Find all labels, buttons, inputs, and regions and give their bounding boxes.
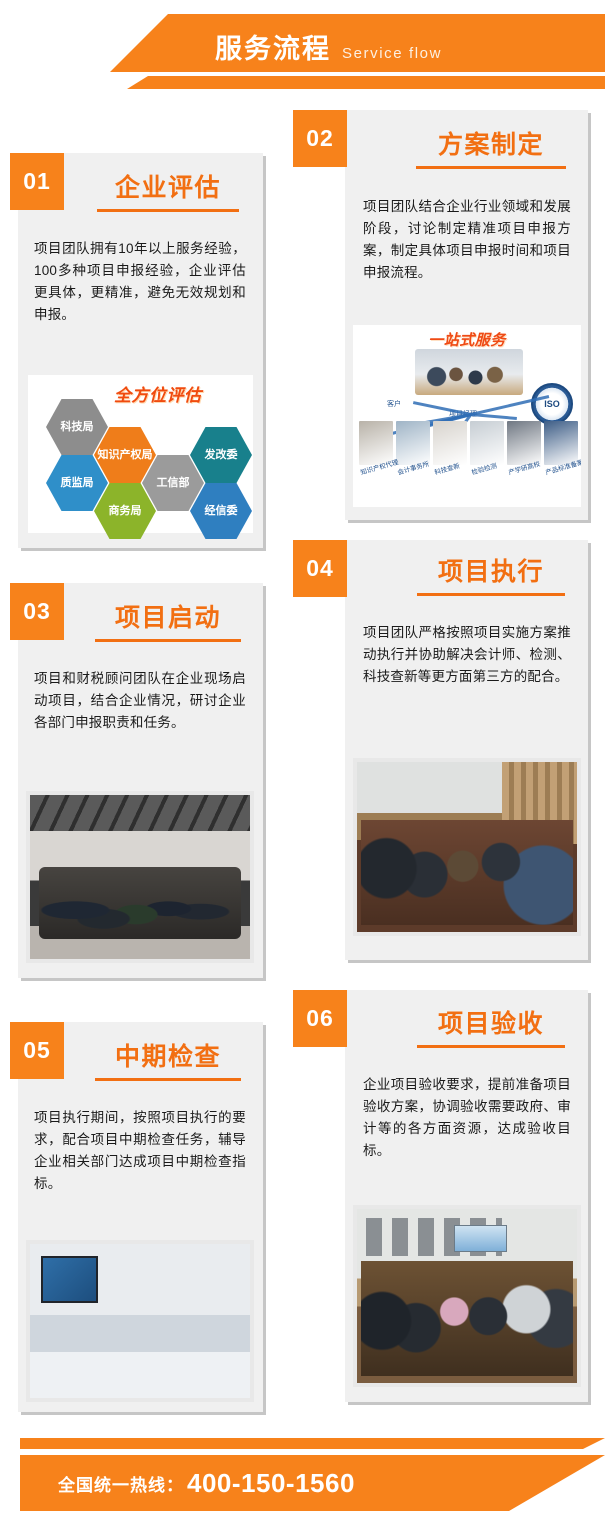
card-body: 项目团队拥有10年以上服务经验，100多种项目申报经验，企业评估更具体，更精准，…: [34, 238, 246, 326]
card-media-photo: [26, 791, 254, 963]
oss-service-thumbnail: [470, 421, 504, 465]
photo-meeting-room: [26, 791, 254, 963]
process-step-card-06[interactable]: 项目验收 企业项目验收要求，提前准备项目验收方案，协调验收需要政府、审计等的各方…: [345, 990, 588, 1402]
card-media-one-stop-service: 一站式服务 客户 项目经理 ISO 知识产权代理会计事务所科技查新检验检测产学研…: [353, 325, 581, 507]
card-title: 项目执行: [407, 552, 575, 588]
card-number-badge: 06: [293, 990, 347, 1047]
card-media-photo: [353, 758, 581, 936]
photo-frame: [357, 762, 577, 932]
card-body: 企业项目验收要求，提前准备项目验收方案，协调验收需要政府、审计等的各方面资源，达…: [363, 1074, 571, 1162]
card-number-badge: 01: [10, 153, 64, 210]
process-step-card-05[interactable]: 中期检查 项目执行期间，按照项目执行的要求，配合项目中期检查任务，辅导企业相关部…: [18, 1022, 263, 1412]
hex-diagram: 全方位评估 科技局知识产权局质监局工信部商务局发改委经信委: [28, 375, 253, 533]
card-number-badge: 04: [293, 540, 347, 597]
card-number-badge: 03: [10, 583, 64, 640]
card-body: 项目团队结合企业行业领域和发展阶段，讨论制定精准项目申报方案，制定具体项目申报时…: [363, 196, 571, 284]
photo-conference: [353, 1205, 581, 1387]
hotline-number[interactable]: 400-150-1560: [187, 1468, 355, 1499]
meeting-photo-thumb: [415, 349, 523, 395]
card-title-underline: [417, 1045, 565, 1048]
card-title-box: 中期检查: [86, 1037, 250, 1081]
card-title: 项目验收: [407, 1004, 575, 1040]
card-body: 项目执行期间，按照项目执行的要求，配合项目中期检查任务，辅导企业相关部门达成项目…: [34, 1107, 246, 1195]
card-body: 项目和财税顾问团队在企业现场启动项目，结合企业情况，研讨企业各部门申报职责和任务…: [34, 668, 246, 734]
page-subtitle: Service flow: [342, 31, 442, 77]
page-header: 服务流程 Service flow: [0, 0, 605, 108]
process-step-card-01[interactable]: 企业评估 项目团队拥有10年以上服务经验，100多种项目申报经验，企业评估更具体…: [18, 153, 263, 548]
footer-hotline-row: 全国统一热线： 400-150-1560: [58, 1455, 355, 1511]
card-title: 中期检查: [86, 1037, 250, 1073]
card-title-underline: [416, 166, 566, 169]
card-body: 项目团队严格按照项目实施方案推动执行并协助解决会计师、检测、科技查新等更方面第三…: [363, 622, 571, 688]
card-media-hex-diagram: 全方位评估 科技局知识产权局质监局工信部商务局发改委经信委: [28, 375, 253, 533]
hex-diagram-title: 全方位评估: [114, 381, 202, 406]
card-number-badge: 05: [10, 1022, 64, 1079]
footer-orange-stripe: [20, 1438, 605, 1449]
card-title-underline: [95, 1078, 241, 1081]
projector-screen: [454, 1225, 507, 1253]
header-title-row: 服务流程 Service flow: [215, 26, 442, 72]
card-media-photo: [353, 1205, 581, 1387]
photo-exhibition-visit: [26, 1240, 254, 1402]
client-node-label: 客户: [387, 399, 401, 409]
card-title: 方案制定: [405, 125, 577, 161]
photo-frame: [357, 1209, 577, 1383]
photo-content: [357, 762, 577, 932]
card-title-box: 项目执行: [407, 552, 575, 596]
card-title: 企业评估: [88, 168, 248, 204]
card-title-underline: [97, 209, 239, 212]
oss-service-thumbnail: [433, 421, 467, 465]
hotline-label: 全国统一热线：: [58, 1471, 184, 1496]
process-step-card-03[interactable]: 项目启动 项目和财税顾问团队在企业现场启动项目，结合企业情况，研讨企业各部门申报…: [18, 583, 263, 978]
card-title-underline: [417, 593, 565, 596]
photo-frame: [30, 795, 250, 959]
card-title-box: 项目验收: [407, 1004, 575, 1048]
photo-content: [30, 795, 250, 959]
one-stop-service-title: 一站式服务: [428, 329, 506, 350]
card-title-underline: [95, 639, 241, 642]
card-title: 项目启动: [86, 598, 250, 634]
card-number-badge: 02: [293, 110, 347, 167]
card-title-box: 企业评估: [88, 168, 248, 212]
card-title-box: 项目启动: [86, 598, 250, 642]
page-title: 服务流程: [215, 26, 331, 72]
photo-frame: [30, 1244, 250, 1398]
photo-working-meeting: [353, 758, 581, 936]
photo-content: [30, 1244, 250, 1398]
header-orange-stripe: [0, 76, 605, 89]
page-footer: 全国统一热线： 400-150-1560: [0, 1430, 605, 1538]
card-media-photo: [26, 1240, 254, 1402]
process-step-card-04[interactable]: 项目执行 项目团队严格按照项目实施方案推动执行并协助解决会计师、检测、科技查新等…: [345, 540, 588, 960]
one-stop-service-diagram: 一站式服务 客户 项目经理 ISO 知识产权代理会计事务所科技查新检验检测产学研…: [353, 325, 581, 507]
photo-content: [357, 1209, 577, 1383]
card-title-box: 方案制定: [405, 125, 577, 169]
iso-seal-icon: ISO: [531, 383, 573, 425]
process-step-card-02[interactable]: 方案制定 项目团队结合企业行业领域和发展阶段，讨论制定精准项目申报方案，制定具体…: [345, 110, 588, 520]
